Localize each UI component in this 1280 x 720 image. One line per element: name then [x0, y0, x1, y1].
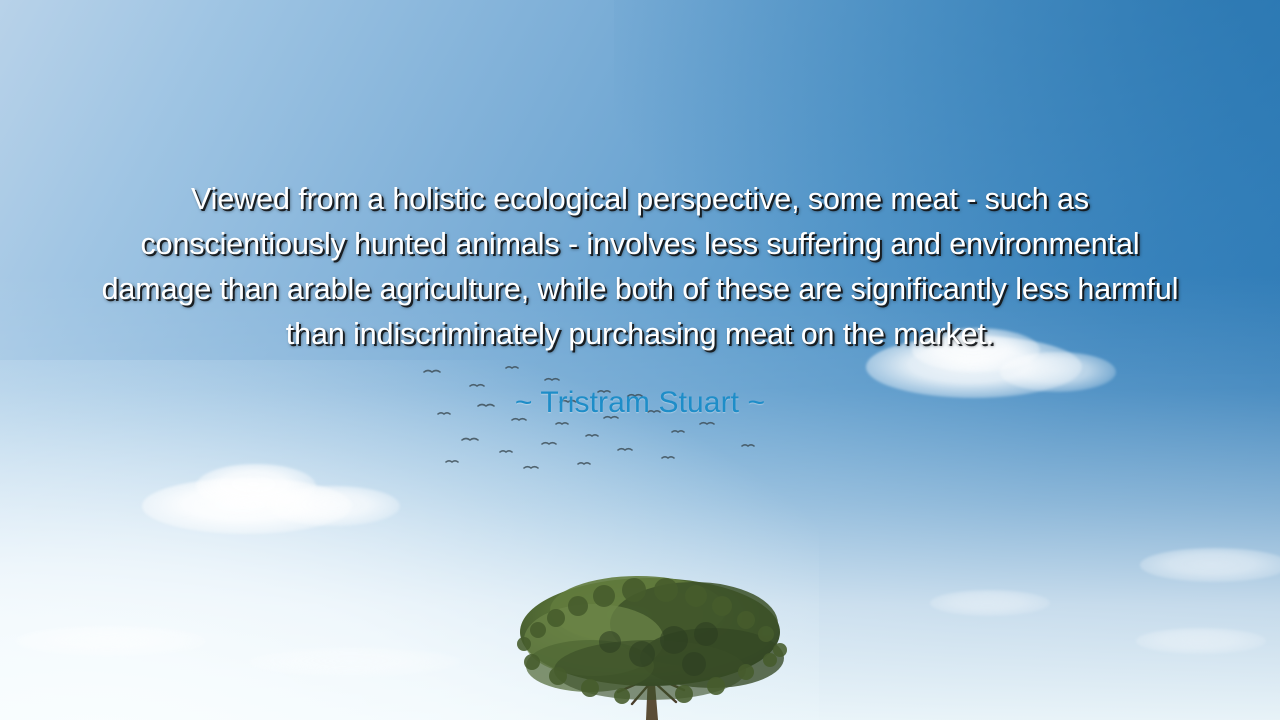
quote-text: Viewed from a holistic ecological perspe… [92, 177, 1188, 357]
quote-overlay: Viewed from a holistic ecological perspe… [0, 0, 1280, 720]
quote-attribution: ~ Tristram Stuart ~ [515, 384, 765, 422]
quote-image-scene: Viewed from a holistic ecological perspe… [0, 0, 1280, 720]
